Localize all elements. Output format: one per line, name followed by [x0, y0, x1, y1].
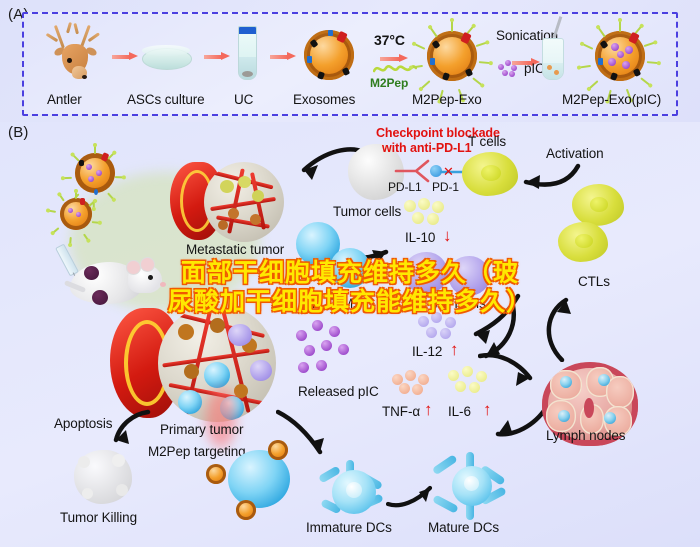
mouse-eye-icon: [148, 275, 153, 280]
il-12-cytokine-label: IL-12: [412, 344, 442, 359]
step-label-asc-culture: ASCs culture: [127, 92, 205, 107]
step-label-antler: Antler: [47, 92, 82, 107]
petri-dish-icon: [142, 44, 194, 70]
arrow-activation: [512, 162, 582, 196]
deer-icon: [42, 22, 110, 88]
exosome-particle-icon: [234, 498, 258, 522]
tumor-nodule-icon: [84, 266, 99, 280]
step-label-exosomes: Exosomes: [293, 92, 355, 107]
il-12-cytokine-particles: [418, 312, 464, 340]
il-10-down-arrow-icon: ↓: [443, 226, 451, 246]
t-cell-icon: [462, 152, 518, 196]
sonicator-icon: [540, 24, 566, 82]
il-10-cytokine-particles: [404, 198, 450, 228]
step-label-m2pep-exo-pic: M2Pep-Exo(pIC): [562, 92, 661, 107]
pic-cluster-icon: [498, 60, 520, 78]
released-pic-particles: [296, 320, 358, 378]
released-pic-label: Released pIC: [298, 384, 379, 399]
m2-tam-cell-icon: [330, 248, 370, 288]
immature-dc-icon: [318, 460, 388, 522]
immature-dcs-label: Immature DCs: [306, 520, 392, 535]
pd-1-label: PD-1: [432, 180, 459, 194]
checkpoint-blockade-line2: with anti-PD-L1: [382, 141, 471, 155]
m2pep-exosome-pic-icon: [584, 20, 656, 92]
m2pep-targeting-label: M2Pep targeting: [148, 444, 246, 459]
centrifuge-tube-icon: [238, 26, 258, 82]
scientific-figure: (A) Antler ASCs culture: [0, 0, 700, 547]
il-12-up-arrow-icon: ↑: [450, 340, 458, 360]
arrow-to-lymph-nodes: [478, 352, 536, 392]
lymph-nodes-label: Lymph nodes: [546, 428, 625, 443]
exosome-icon: [302, 28, 356, 82]
blocked-cross-icon: ✕: [443, 166, 454, 178]
deer-eye-icon: [67, 58, 72, 63]
tumor-cells-label: Tumor cells: [333, 204, 401, 219]
m1-tam-cell-icon: [404, 252, 448, 294]
arrow-il12-upward: [478, 298, 534, 360]
metastatic-tumor-label: Metastatic tumor: [186, 242, 284, 257]
exosome-particle-icon: [52, 190, 100, 238]
il-6-up-arrow-icon: ↑: [483, 400, 491, 420]
metastatic-tumor-icon: [170, 158, 290, 254]
arrow-to-ctls: [536, 290, 584, 362]
activation-label: Activation: [546, 146, 604, 161]
m2pep-exosome-icon: [416, 20, 488, 92]
panel-a: (A) Antler ASCs culture: [0, 0, 700, 122]
process-arrow-1: [112, 52, 138, 61]
panel-b-tag: (B): [8, 124, 29, 141]
tnf-alpha-cytokine-particles: [392, 370, 436, 396]
tumor-nodule-icon: [92, 290, 108, 305]
process-arrow-3: [270, 52, 296, 61]
primary-tumor-label: Primary tumor: [160, 422, 243, 437]
m1-tam-cell-icon: [448, 256, 490, 296]
panel-b: (B): [0, 122, 700, 547]
arrow-immature-to-mature-dcs: [386, 482, 438, 512]
arrow-to-immature-dcs: [276, 408, 342, 468]
step-label-uc: UC: [234, 92, 253, 107]
il-10-cytokine-label: IL-10: [405, 230, 435, 245]
mature-dc-icon: [434, 454, 510, 520]
process-arrow-2: [204, 52, 230, 61]
t-cells-label: T cells: [468, 134, 506, 149]
ctl-cell-icon: [558, 222, 608, 262]
mature-dcs-label: Mature DCs: [428, 520, 499, 535]
tnf-alpha-cytokine-label: TNF-α: [382, 404, 420, 419]
il-6-cytokine-label: IL-6: [448, 404, 471, 419]
m2-tams-label: M2 TAMs: [304, 296, 360, 311]
exosome-particle-icon: [204, 462, 228, 486]
tnf-alpha-up-arrow-icon: ↑: [424, 400, 432, 420]
temperature-annotation: 37°C: [374, 32, 405, 48]
step-label-m2pep-exo: M2Pep-Exo: [412, 92, 482, 107]
dying-tumor-cell-icon: [72, 448, 134, 506]
ctls-label: CTLs: [578, 274, 610, 289]
m2pep-annotation: M2Pep: [370, 76, 408, 90]
tumor-killing-label: Tumor Killing: [60, 510, 137, 525]
ctl-cell-icon: [572, 184, 624, 226]
pd-l1-label: PD-L1: [388, 180, 422, 194]
